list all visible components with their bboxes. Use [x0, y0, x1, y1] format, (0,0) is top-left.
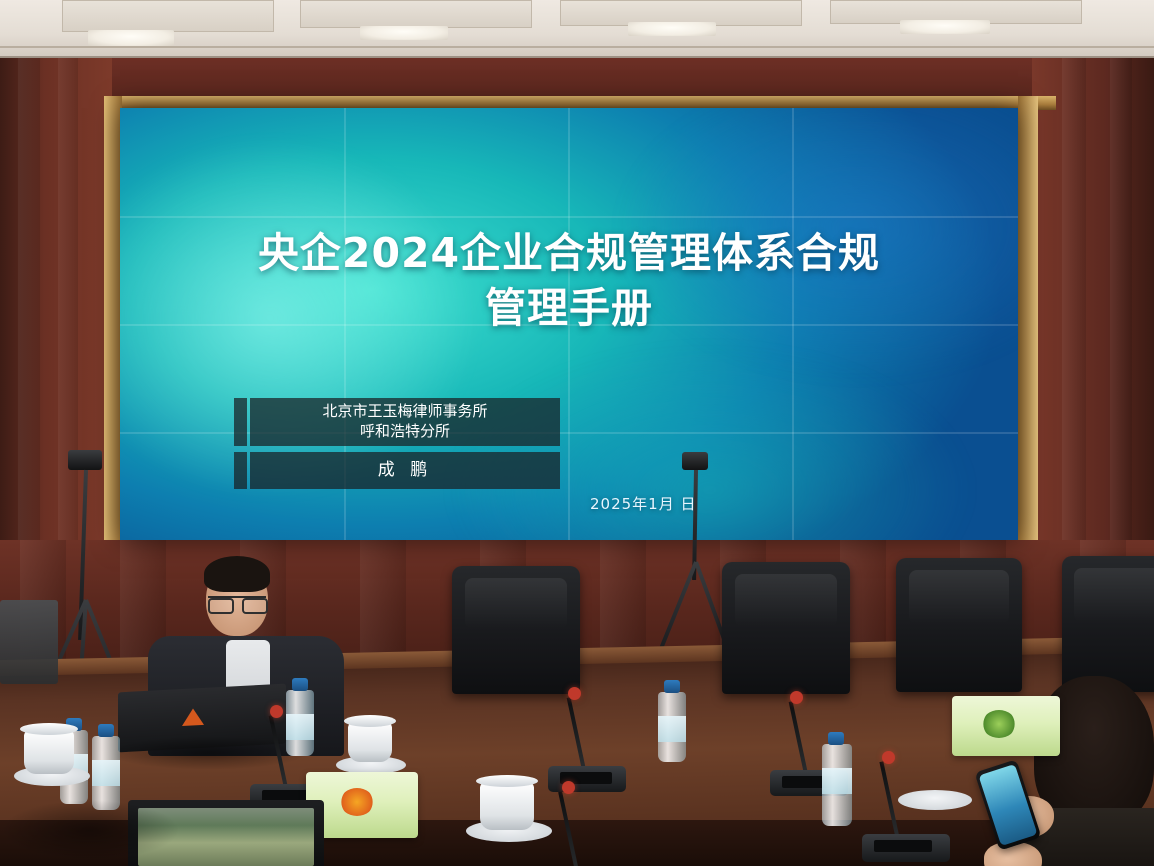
ceiling-light — [360, 26, 448, 40]
ceiling-light — [900, 20, 990, 34]
cup-lid — [344, 715, 396, 727]
bottle-cap — [292, 678, 308, 691]
bottle-5[interactable] — [822, 744, 852, 826]
tissue-box-art — [340, 788, 374, 816]
microphone-head — [568, 687, 581, 700]
ceiling-panel — [300, 0, 532, 28]
tissue-box-2[interactable] — [952, 696, 1060, 756]
author-org-line-2: 呼和浩特分所 — [250, 422, 560, 442]
bottle-label — [286, 714, 314, 740]
ceiling-light — [88, 30, 174, 46]
bottle-label — [92, 760, 120, 786]
presentation-screen[interactable]: 央企2024企业合规管理体系合规 管理手册 北京市王玉梅律师事务所 呼和浩特分所… — [120, 108, 1018, 540]
chair-2[interactable] — [722, 562, 850, 694]
author-org-line-1: 北京市王玉梅律师事务所 — [250, 402, 560, 422]
cup-lid — [476, 775, 538, 787]
slide-title-line-2: 管理手册 — [120, 281, 1018, 336]
slide-presenter-name: 成 鹏 — [250, 452, 560, 489]
tissue-box-art — [982, 710, 1016, 738]
microphone-head — [882, 751, 895, 764]
slide-author-organization: 北京市王玉梅律师事务所 呼和浩特分所 — [250, 398, 560, 446]
eyeglasses-icon — [208, 596, 266, 611]
author-accent-tab — [234, 398, 247, 446]
chair-4[interactable] — [1062, 556, 1154, 692]
presenter-name-text: 成 鹏 — [378, 460, 432, 480]
bottle-cap — [98, 724, 114, 737]
gold-trim-right — [1018, 96, 1038, 566]
microphone-panel — [874, 840, 932, 852]
object-shadow — [0, 800, 180, 860]
microphone-stem — [879, 761, 900, 840]
microphone-head — [562, 781, 575, 794]
wall-panel-seam — [18, 58, 40, 618]
person-hair — [204, 556, 270, 592]
wall-panel-seam — [1062, 58, 1086, 618]
ceiling-panel — [62, 0, 274, 32]
bottle-cap — [828, 732, 844, 745]
cup-3[interactable] — [24, 730, 74, 774]
microphone-head — [790, 691, 803, 704]
bottle-2[interactable] — [92, 736, 120, 810]
microphone-4[interactable] — [542, 768, 632, 866]
cup-2[interactable] — [480, 782, 534, 830]
ceiling-light — [628, 22, 716, 36]
camera-head-icon — [68, 450, 102, 470]
slide-title: 央企2024企业合规管理体系合规 管理手册 — [120, 226, 1018, 337]
laptop-logo-icon — [182, 708, 204, 726]
slide-author-block: 北京市王玉梅律师事务所 呼和浩特分所 成 鹏 — [250, 398, 560, 495]
saucer-4 — [898, 790, 972, 810]
bottle-label — [658, 716, 686, 742]
microphone-stem — [789, 701, 808, 774]
camera-head-icon — [682, 452, 708, 470]
microphone-stem — [567, 697, 586, 770]
cup-lid — [20, 723, 78, 735]
cup-1[interactable] — [348, 722, 392, 762]
microphone-base — [862, 834, 950, 862]
microphone-stem — [558, 791, 580, 866]
microphone-head — [270, 705, 283, 718]
bottle-label — [822, 768, 852, 794]
wall-speaker — [0, 600, 58, 684]
slide-title-line-1: 央企2024企业合规管理体系合规 — [120, 226, 1018, 281]
right-wall — [1032, 58, 1154, 618]
screen-bezel — [120, 216, 1018, 218]
bottle-4[interactable] — [658, 692, 686, 762]
wall-panel-seam — [1110, 58, 1132, 618]
ceiling-seam — [0, 46, 1154, 48]
bottle-cap — [664, 680, 680, 693]
chair-3[interactable] — [896, 558, 1022, 692]
author-accent-tab — [234, 452, 247, 489]
photo-scene: 央企2024企业合规管理体系合规 管理手册 北京市王玉梅律师事务所 呼和浩特分所… — [0, 0, 1154, 866]
bottle-3[interactable] — [286, 690, 314, 756]
